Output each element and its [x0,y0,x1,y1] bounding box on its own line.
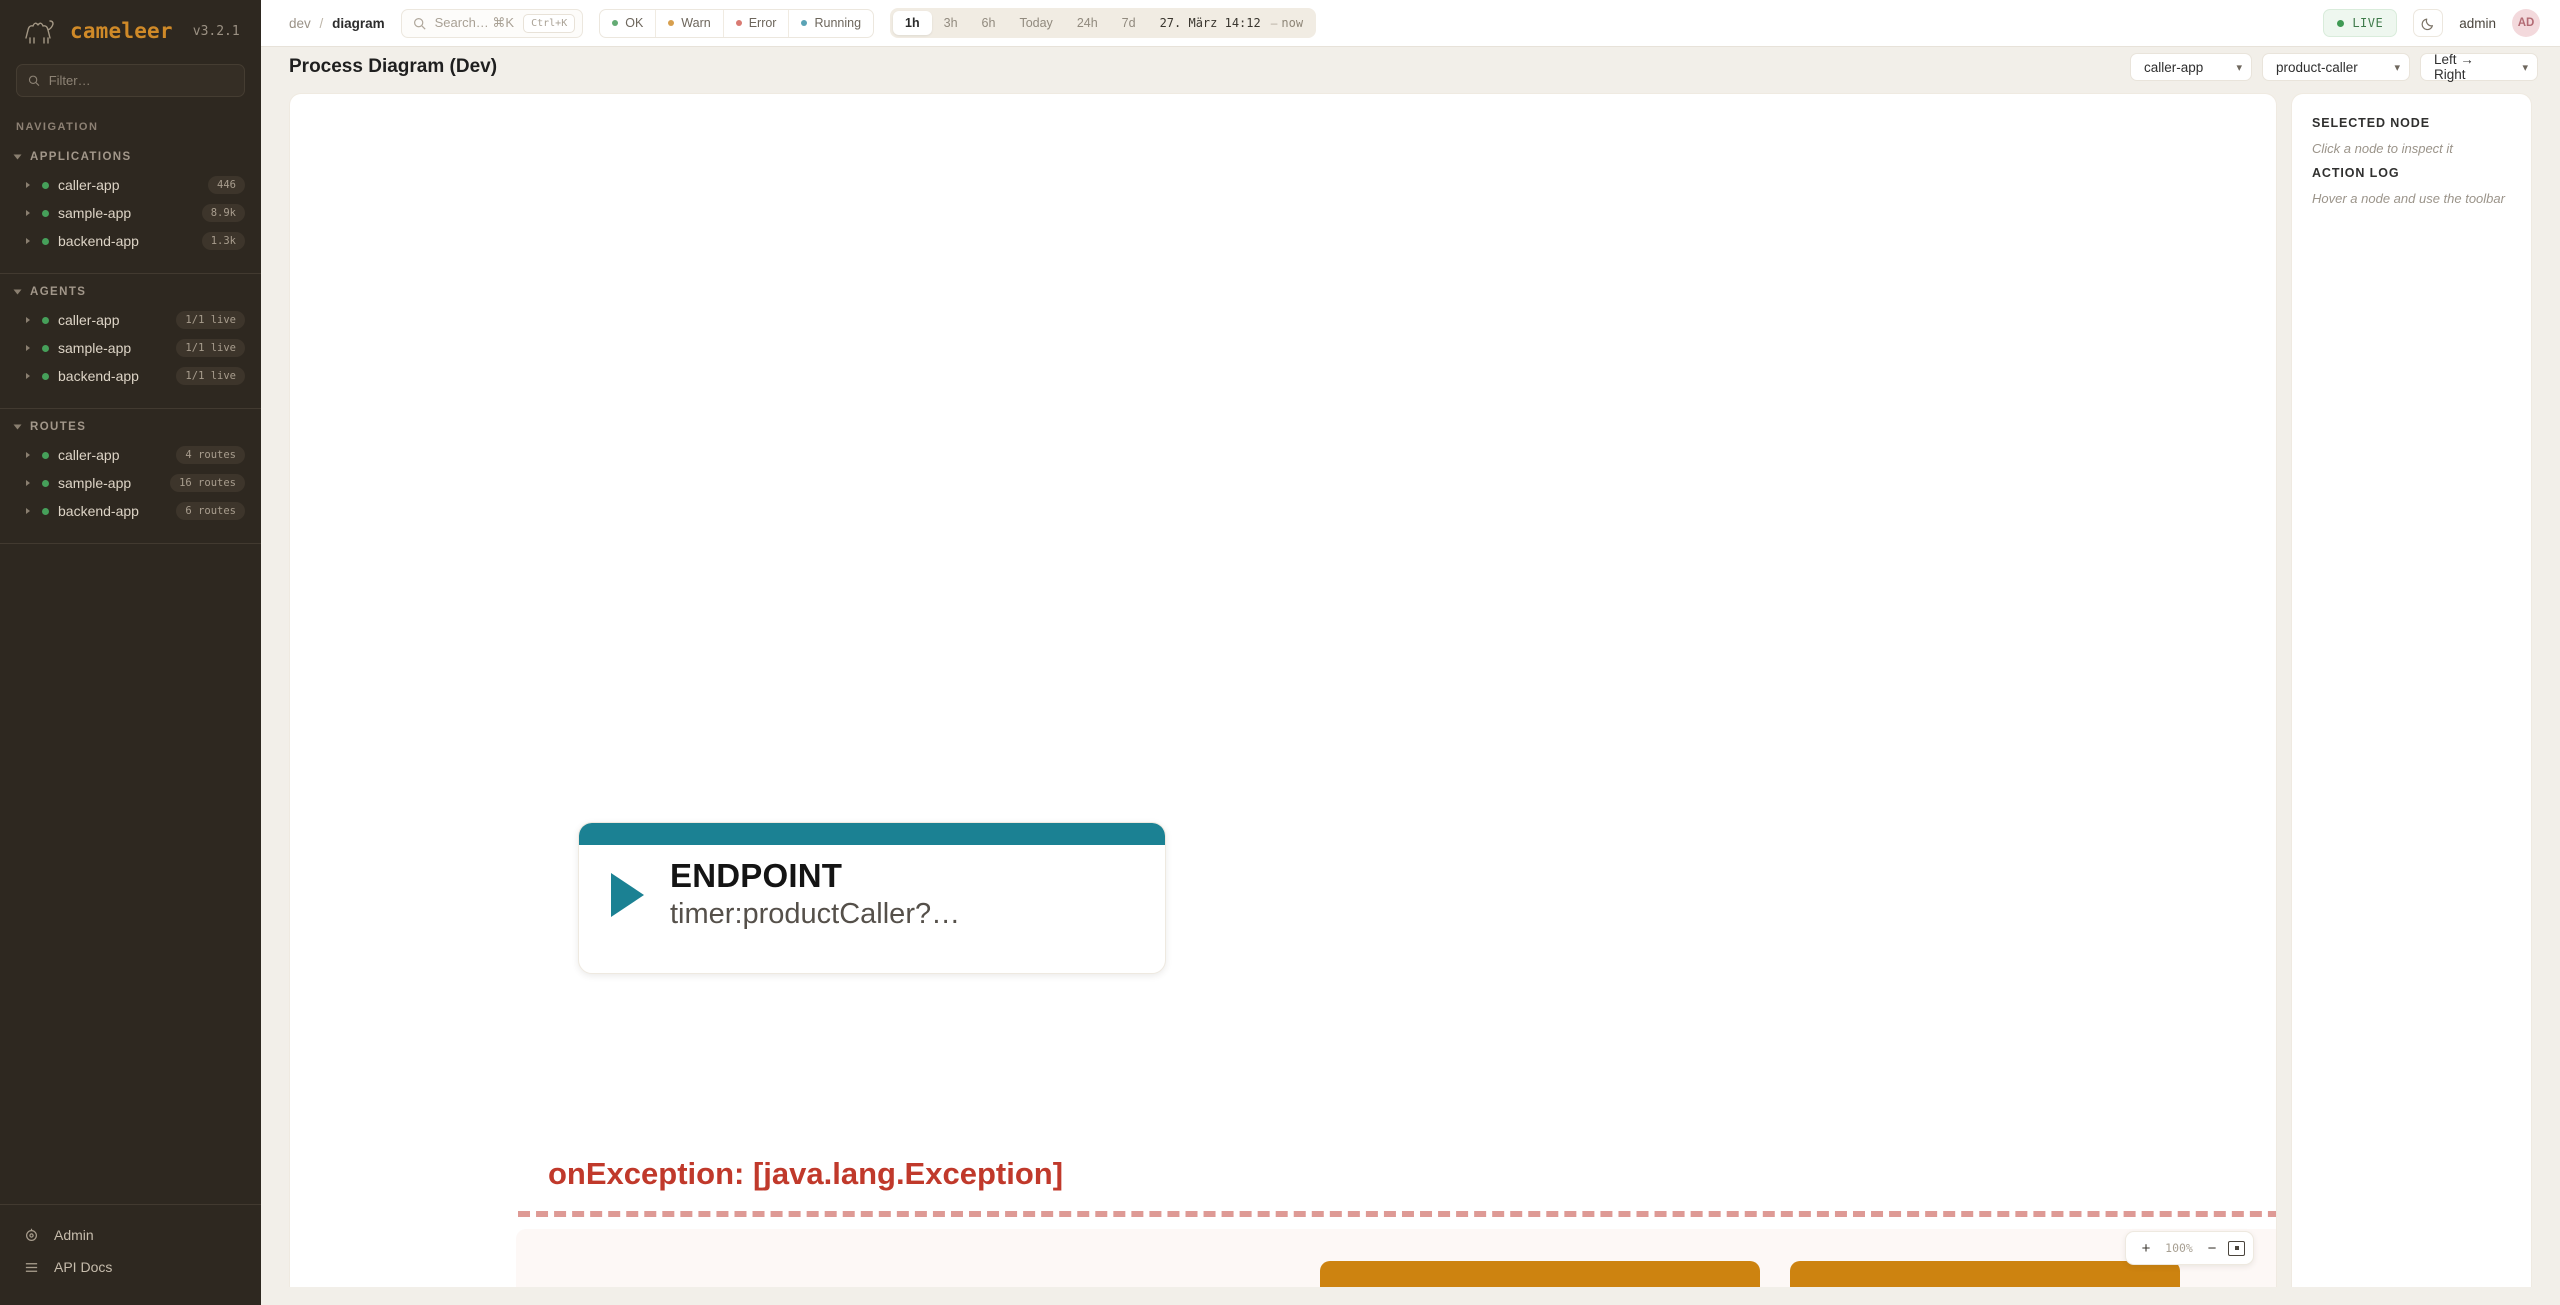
brand-name: cameleer [70,19,173,43]
chevron-down-icon [14,290,22,295]
status-dot [42,210,49,217]
status-dot [42,508,49,515]
app-root: cameleer v3.2.1 NAVIGATION APPLICATIONS [0,0,2560,1305]
search-icon [28,74,40,87]
page-title: Process Diagram (Dev) [289,56,497,78]
breadcrumb[interactable]: dev / diagram [289,16,385,31]
sidebar-item-badge: 1.3k [202,232,245,250]
zoom-in-button[interactable]: + [2134,1236,2158,1260]
select-application[interactable]: caller-app ▾ [2130,53,2252,81]
status-dot [42,452,49,459]
chevron-down-icon [14,155,22,160]
select-route[interactable]: product-caller ▾ [2262,53,2410,81]
filter-wrapper [0,60,261,97]
diagram-selectors: caller-app ▾ product-caller ▾ Left → Rig… [2130,53,2538,81]
sidebar-item-agents-sample-app[interactable]: sample-app 1/1 live [0,334,261,362]
chevron-right-icon [26,345,31,351]
sidebar-item-label: backend-app [58,233,193,249]
sidebar-item-agents-caller-app[interactable]: caller-app 1/1 live [0,306,261,334]
sidebar-item-api-docs[interactable]: API Docs [0,1251,261,1283]
search-placeholder: Search… ⌘K [435,15,514,31]
sidebar-item-applications-backend-app[interactable]: backend-app 1.3k [0,227,261,255]
sidebar-item-agents-backend-app[interactable]: backend-app 1/1 live [0,362,261,390]
sidebar-footer-label: API Docs [54,1259,112,1275]
sidebar-divider [0,543,261,544]
status-filter-group: OK Warn Error Running [599,9,874,38]
main-area: dev / diagram Search… ⌘K Ctrl+K OK [261,0,2560,1305]
sidebar-footer: Admin API Docs [0,1204,261,1305]
selected-node-empty-text: Click a node to inspect it [2312,141,2511,156]
sidebar-item-admin[interactable]: Admin [0,1219,261,1251]
theme-toggle-button[interactable] [2413,9,2443,37]
diagram-canvas[interactable]: ENDPOINT timer:productCaller?… onExcepti… [289,93,2277,1287]
status-filter-running[interactable]: Running [789,10,873,37]
time-range-7d[interactable]: 7d [1110,11,1148,35]
sidebar-item-label: sample-app [58,475,161,491]
live-indicator[interactable]: LIVE [2323,9,2397,37]
sidebar-item-badge: 1/1 live [176,367,245,385]
nav-title: NAVIGATION [0,113,261,145]
time-range-to[interactable]: now [1281,16,1313,30]
sidebar-divider [0,273,261,274]
chevron-down-icon: ▾ [2236,61,2242,74]
chevron-right-icon [26,317,31,323]
group-header-applications[interactable]: APPLICATIONS [0,145,261,171]
search-shortcut-badge: Ctrl+K [523,14,575,33]
status-dot [42,182,49,189]
chevron-down-icon [14,425,22,430]
brand-version: v3.2.1 [193,24,240,39]
sidebar-group-agents: AGENTS caller-app 1/1 live sample-app 1/… [0,280,261,396]
status-dot [42,238,49,245]
sidebar-footer-label: Admin [54,1227,94,1243]
play-icon [611,873,644,917]
node-header-bar [579,823,1165,845]
exception-label: onException: [java.lang.Exception] [548,1156,1063,1192]
sidebar-item-routes-sample-app[interactable]: sample-app 16 routes [0,469,261,497]
status-filter-label: Error [749,16,777,30]
sidebar-item-routes-caller-app[interactable]: caller-app 4 routes [0,441,261,469]
node-header-processor-b[interactable] [1790,1261,2180,1287]
fit-to-view-icon[interactable] [2228,1241,2245,1256]
exception-divider [518,1211,2277,1217]
sidebar-item-routes-backend-app[interactable]: backend-app 6 routes [0,497,261,525]
sidebar-item-label: sample-app [58,205,193,221]
status-dot [42,480,49,487]
group-label: APPLICATIONS [30,151,132,163]
node-endpoint[interactable]: ENDPOINT timer:productCaller?… [578,822,1166,974]
chevron-down-icon: ▾ [2522,61,2528,74]
sidebar-item-applications-caller-app[interactable]: caller-app 446 [0,171,261,199]
time-range-from[interactable]: 27. März 14:12 [1148,16,1267,30]
select-route-value: product-caller [2276,60,2358,75]
zoom-controls: + 100% − [2125,1231,2254,1265]
sidebar-item-badge: 16 routes [170,474,245,492]
sidebar-item-badge: 446 [208,176,245,194]
chevron-right-icon [26,182,31,188]
camel-icon [22,16,56,46]
breadcrumb-current: diagram [332,16,385,31]
zoom-out-button[interactable]: − [2200,1236,2224,1260]
status-filter-label: OK [625,16,643,30]
sidebar-item-badge: 8.9k [202,204,245,222]
breadcrumb-separator: / [320,16,324,31]
sidebar-item-label: caller-app [58,312,167,328]
live-label: LIVE [2352,16,2383,30]
zoom-level-label: 100% [2162,1241,2196,1255]
status-dot-error [736,20,742,26]
select-direction[interactable]: Left → Right ▾ [2420,53,2538,81]
search-icon [413,17,426,30]
group-header-routes[interactable]: ROUTES [0,415,261,441]
filter-input[interactable] [49,73,233,88]
time-range-24h[interactable]: 24h [1065,11,1110,35]
sidebar-item-label: backend-app [58,503,167,519]
group-header-agents[interactable]: AGENTS [0,280,261,306]
sidebar-group-applications: APPLICATIONS caller-app 446 sample-app 8… [0,145,261,261]
select-application-value: caller-app [2144,60,2203,75]
diagram-canvas-wrapper: ENDPOINT timer:productCaller?… onExcepti… [261,87,2277,1305]
sidebar-divider [0,408,261,409]
chevron-right-icon [26,210,31,216]
user-name: admin [2459,16,2496,31]
sidebar-item-label: caller-app [58,447,167,463]
sidebar-filter[interactable] [16,64,245,97]
select-direction-value: Left → Right [2434,52,2506,82]
time-range-group: 1h 3h 6h Today 24h 7d 27. März 14:12 – n… [890,8,1316,38]
chevron-down-icon: ▾ [2394,61,2400,74]
group-label: AGENTS [30,286,86,298]
time-range-3h[interactable]: 3h [932,11,970,35]
status-filter-ok[interactable]: OK [600,10,656,37]
chevron-right-icon [26,373,31,379]
node-body: ENDPOINT timer:productCaller?… [579,845,1165,932]
avatar[interactable]: AD [2512,9,2540,37]
sidebar-item-badge: 6 routes [176,502,245,520]
status-dot-ok [612,20,618,26]
sidebar-group-routes: ROUTES caller-app 4 routes sample-app 16… [0,415,261,531]
sidebar-item-label: sample-app [58,340,167,356]
list-icon [24,1260,39,1275]
status-dot [42,317,49,324]
sidebar-item-label: caller-app [58,177,199,193]
time-range-6h[interactable]: 6h [970,11,1008,35]
global-search[interactable]: Search… ⌘K Ctrl+K [401,9,584,38]
time-range-separator: – [1267,16,1282,30]
status-filter-warn[interactable]: Warn [656,10,723,37]
sidebar-item-badge: 4 routes [176,446,245,464]
breadcrumb-root[interactable]: dev [289,16,311,31]
sidebar-item-badge: 1/1 live [176,311,245,329]
topbar: dev / diagram Search… ⌘K Ctrl+K OK [261,0,2560,47]
chevron-right-icon [26,508,31,514]
content-row: ENDPOINT timer:productCaller?… onExcepti… [261,87,2560,1305]
brand[interactable]: cameleer v3.2.1 [0,0,261,60]
time-range-1h[interactable]: 1h [893,11,932,35]
chevron-right-icon [26,238,31,244]
status-filter-error[interactable]: Error [724,10,790,37]
selected-node-title: SELECTED NODE [2312,116,2511,130]
action-log-title: ACTION LOG [2312,166,2511,180]
sidebar-item-label: backend-app [58,368,167,384]
sidebar-scroll: NAVIGATION APPLICATIONS caller-app 446 s… [0,97,261,1204]
node-uri-label: timer:productCaller?… [670,896,960,932]
node-text-group: ENDPOINT timer:productCaller?… [670,859,960,932]
status-filter-label: Running [814,16,861,30]
sidebar-item-badge: 1/1 live [176,339,245,357]
status-dot-running [801,20,807,26]
moon-icon [2421,16,2436,31]
live-dot [2337,20,2344,27]
sidebar-item-applications-sample-app[interactable]: sample-app 8.9k [0,199,261,227]
inspector-panel: SELECTED NODE Click a node to inspect it… [2277,87,2560,1305]
page-header: Process Diagram (Dev) caller-app ▾ produ… [261,47,2560,87]
inspector-card: SELECTED NODE Click a node to inspect it… [2291,93,2532,1287]
status-dot [42,345,49,352]
status-dot [42,373,49,380]
chevron-right-icon [26,452,31,458]
group-label: ROUTES [30,421,86,433]
node-kind-label: ENDPOINT [670,859,960,894]
node-header-processor-a[interactable] [1320,1261,1760,1287]
time-range-today[interactable]: Today [1007,11,1064,35]
sidebar: cameleer v3.2.1 NAVIGATION APPLICATIONS [0,0,261,1305]
gear-icon [24,1228,39,1243]
status-filter-label: Warn [681,16,710,30]
status-dot-warn [668,20,674,26]
chevron-right-icon [26,480,31,486]
action-log-empty-text: Hover a node and use the toolbar [2312,191,2511,206]
